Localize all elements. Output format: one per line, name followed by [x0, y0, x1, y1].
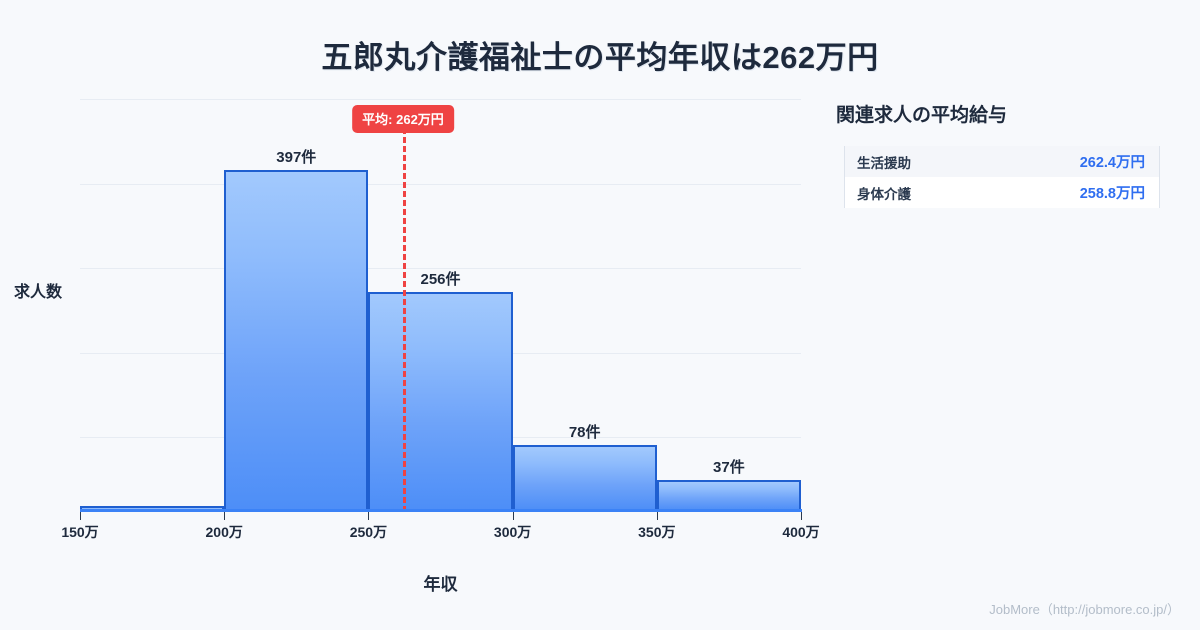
x-axis-line [80, 509, 802, 512]
gridline [80, 99, 801, 100]
bar-value-label: 37件 [713, 456, 745, 477]
x-axis-tick [368, 512, 369, 520]
y-axis-title: 求人数 [14, 278, 62, 302]
x-axis-tick [801, 512, 802, 520]
histogram-bar [657, 480, 801, 512]
salary-row: 身体介護258.8万円 [845, 177, 1160, 208]
related-salary-title: 関連求人の平均給与 [836, 100, 1160, 127]
x-axis-tick-label: 200万 [206, 522, 243, 542]
x-axis-tick [657, 512, 658, 520]
x-axis-title: 年収 [80, 570, 801, 595]
bar-value-label: 397件 [276, 146, 316, 167]
x-axis-tick-label: 150万 [61, 522, 98, 542]
bar-value-label: 78件 [569, 421, 601, 442]
salary-row-amount: 258.8万円 [988, 177, 1160, 208]
histogram-bar [368, 292, 512, 512]
x-axis-tick-label: 400万 [782, 522, 819, 542]
related-salary-table: 生活援助262.4万円身体介護258.8万円 [844, 146, 1160, 208]
histogram-bar [513, 445, 657, 512]
x-axis-tick-label: 300万 [494, 522, 531, 542]
x-axis-tick-label: 250万 [350, 522, 387, 542]
gridline [80, 184, 801, 185]
page-title: 五郎丸介護福祉士の平均年収は262万円 [0, 32, 1200, 77]
histogram-bar [224, 170, 368, 512]
average-badge: 平均: 262万円 [352, 105, 454, 133]
x-axis-tick [224, 512, 225, 520]
salary-row-job: 生活援助 [845, 146, 988, 177]
related-salary-panel: 関連求人の平均給与 生活援助262.4万円身体介護258.8万円 [836, 100, 1160, 208]
salary-row: 生活援助262.4万円 [845, 146, 1160, 177]
watermark: JobMore（http://jobmore.co.jp/） [989, 599, 1180, 618]
x-axis-tick [80, 512, 81, 520]
x-axis-tick-label: 350万 [638, 522, 675, 542]
salary-row-amount: 262.4万円 [988, 146, 1160, 177]
salary-row-job: 身体介護 [845, 177, 988, 208]
average-line [403, 128, 406, 512]
bar-value-label: 256件 [420, 268, 460, 289]
x-axis-tick [513, 512, 514, 520]
